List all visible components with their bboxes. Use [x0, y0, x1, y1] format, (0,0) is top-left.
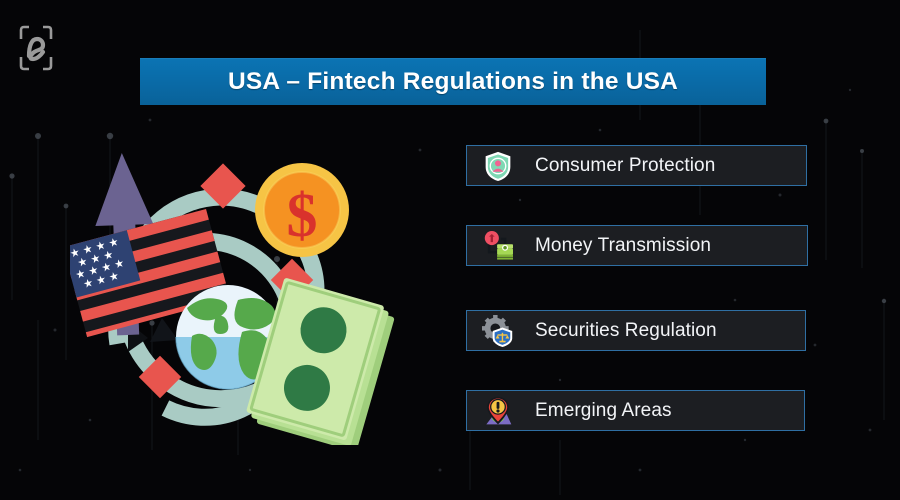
- bracket-n-logo[interactable]: [19, 25, 53, 71]
- dollar-coin: $: [255, 163, 349, 257]
- slide-canvas: USA – Fintech Regulations in the USA: [0, 0, 900, 500]
- slide-title-bar: USA – Fintech Regulations in the USA: [140, 58, 766, 105]
- money-transfer-icon: [475, 225, 521, 266]
- list-item-label: Securities Regulation: [535, 320, 717, 342]
- list-item[interactable]: Consumer Protection: [466, 145, 807, 186]
- page-title: USA – Fintech Regulations in the USA: [228, 68, 678, 96]
- list-item-label: Money Transmission: [535, 235, 711, 257]
- regulation-list: Consumer Protection Money Transmissi: [466, 145, 808, 430]
- list-item[interactable]: Money Transmission: [466, 225, 808, 266]
- gear-shield-scales-icon: [475, 310, 521, 351]
- shield-person-icon: [475, 145, 521, 186]
- list-item[interactable]: Securities Regulation: [466, 310, 806, 351]
- svg-text:$: $: [287, 182, 318, 250]
- usa-fintech-illustration: ★ ★ ★ ★ ★ ★ ★ ★ ★ ★ ★ ★ ★ ★ $: [70, 140, 400, 445]
- list-item[interactable]: Emerging Areas: [466, 390, 805, 431]
- map-pin-alert-icon: [475, 390, 521, 431]
- list-item-label: Emerging Areas: [535, 400, 672, 422]
- list-item-label: Consumer Protection: [535, 155, 715, 177]
